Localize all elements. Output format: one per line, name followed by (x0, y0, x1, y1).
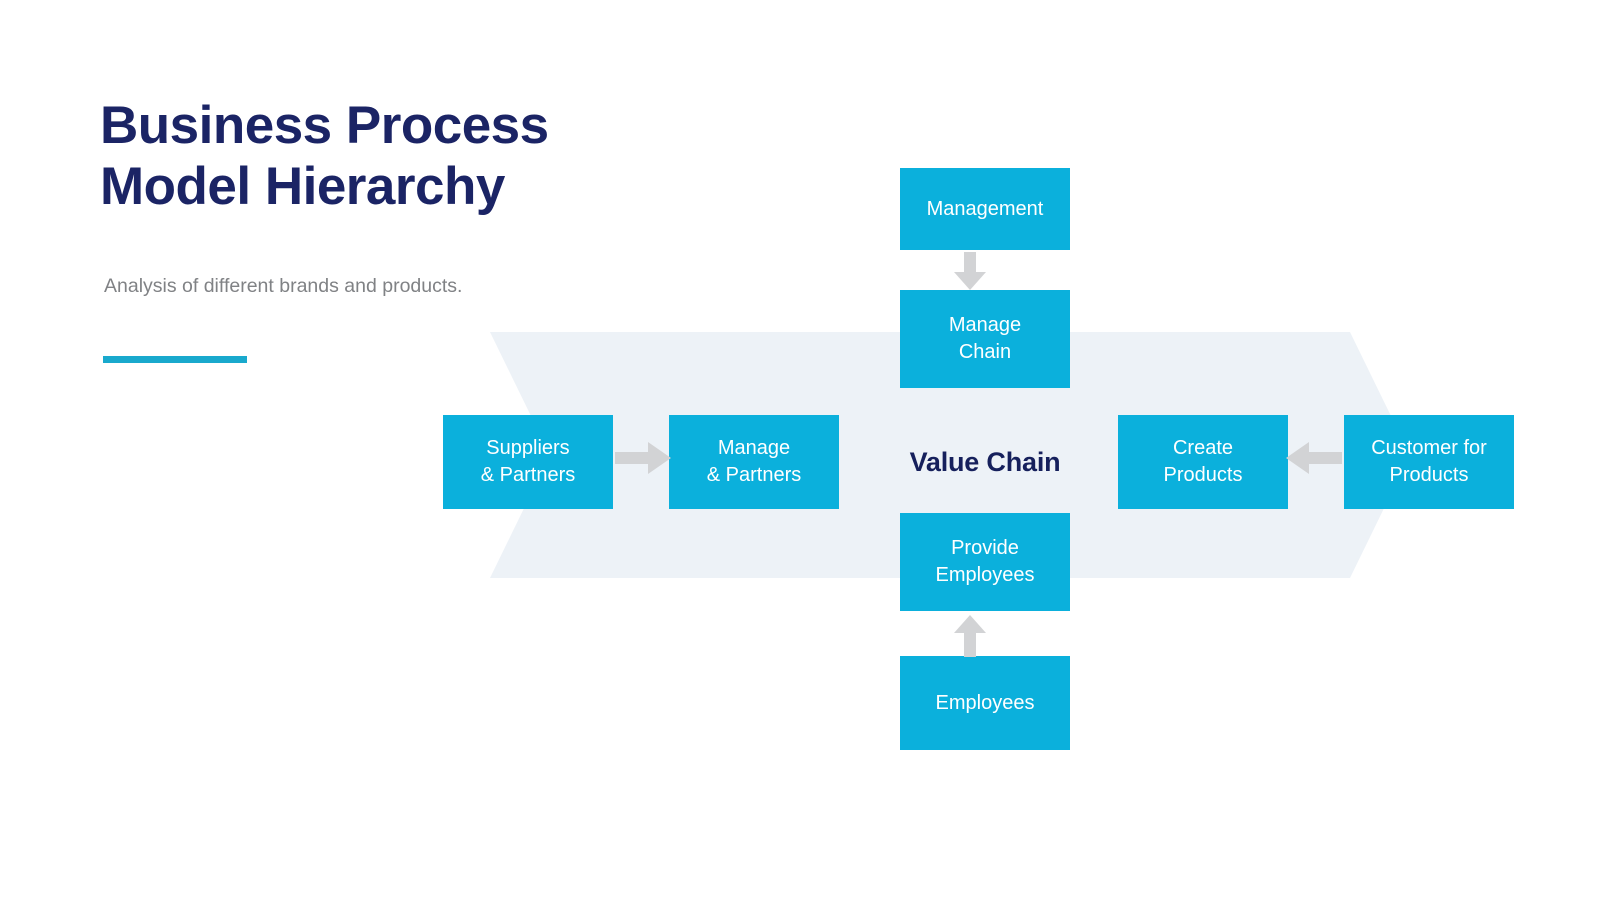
node-management[interactable]: Management (900, 168, 1070, 250)
node-provide-employees[interactable]: Provide Employees (900, 513, 1070, 611)
value-chain-label: Value Chain (845, 432, 1125, 492)
node-manage-chain[interactable]: Manage Chain (900, 290, 1070, 388)
arrow-down-icon (950, 252, 990, 290)
node-customer-for-products[interactable]: Customer for Products (1344, 415, 1514, 509)
node-manage-partners[interactable]: Manage & Partners (669, 415, 839, 509)
arrow-right-icon (615, 440, 671, 476)
node-create-products[interactable]: Create Products (1118, 415, 1288, 509)
slide-canvas: Business Process Model Hierarchy Analysi… (0, 0, 1620, 911)
arrow-up-icon (950, 615, 990, 657)
business-process-diagram: Value Chain Management Manage Chain Supp… (0, 0, 1620, 911)
arrow-left-icon (1286, 440, 1342, 476)
node-suppliers-partners[interactable]: Suppliers & Partners (443, 415, 613, 509)
node-employees[interactable]: Employees (900, 656, 1070, 750)
